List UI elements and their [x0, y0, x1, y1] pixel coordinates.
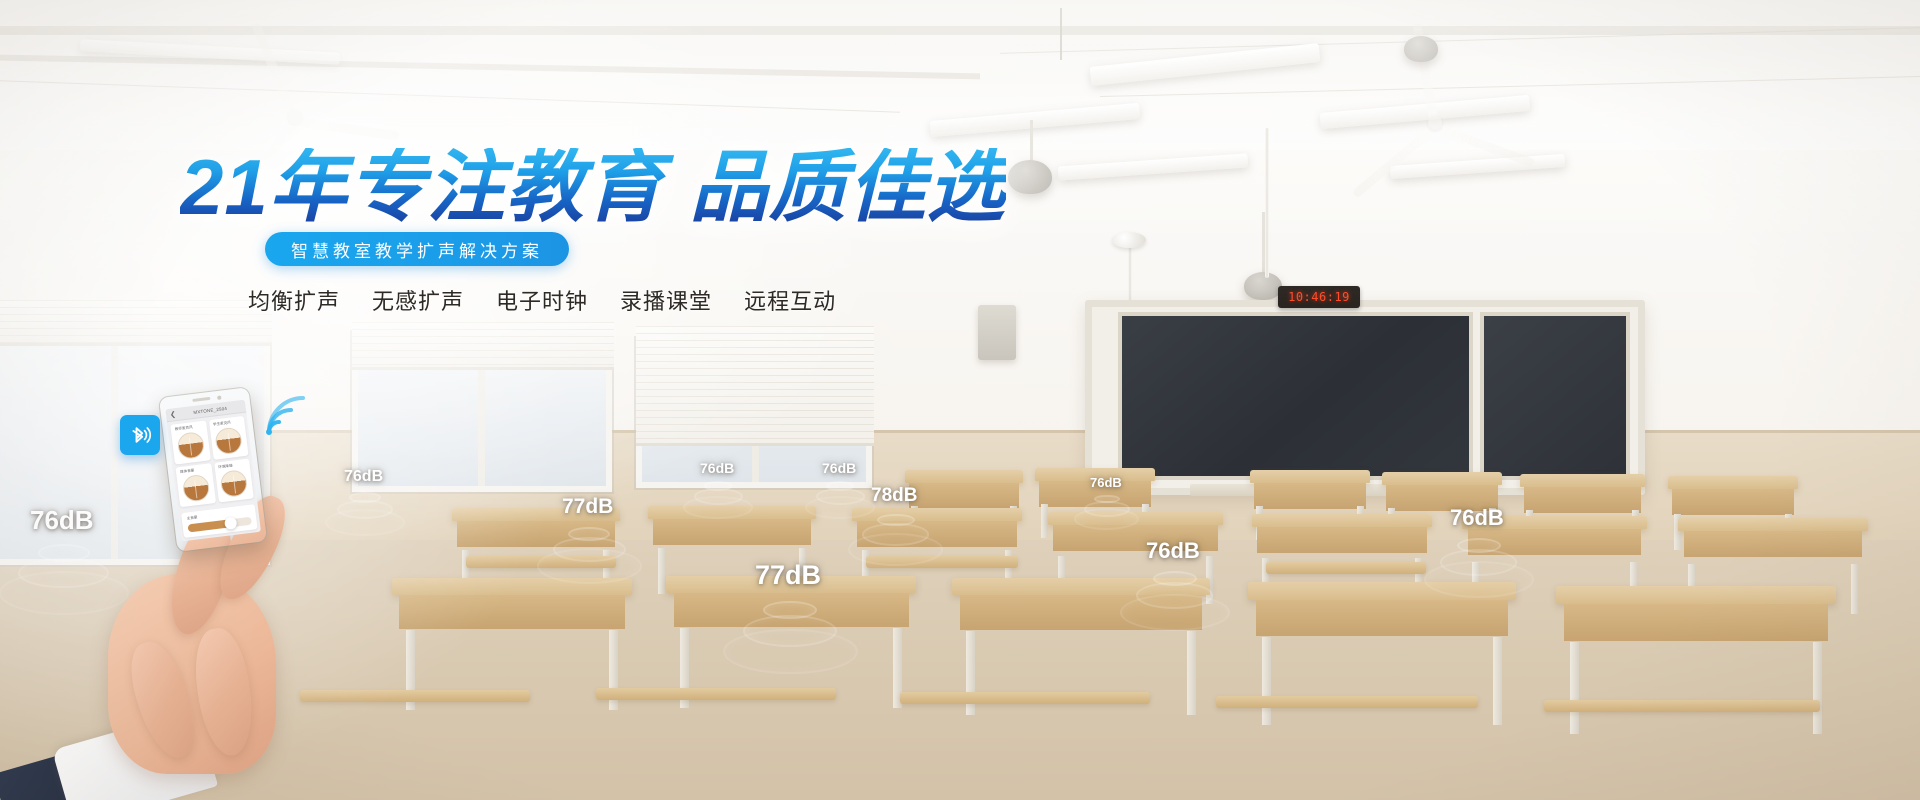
app-card-label-3: 环境降噪: [216, 464, 233, 471]
dial-control[interactable]: [220, 469, 249, 498]
feature-list: 均衡扩声无感扩声电子时钟录播课堂远程互动: [248, 284, 836, 316]
dial-control[interactable]: [181, 474, 210, 503]
student-desk: [1252, 514, 1432, 562]
app-control-card[interactable]: 媒体音量: [175, 463, 215, 507]
subtitle-text: 智慧教室教学扩声解决方案: [291, 237, 543, 262]
db-label-2: 77dB: [562, 495, 613, 519]
student-chair: [300, 690, 530, 706]
feature-item-2: 电子时钟: [496, 284, 588, 316]
banner-stage: 10:46:19: [0, 0, 1920, 800]
sound-ring: [723, 629, 858, 675]
db-label-3: 76dB: [700, 460, 734, 476]
sound-ring: [537, 548, 642, 584]
app-button-primary[interactable]: [185, 537, 221, 542]
mic-head: [1112, 232, 1146, 248]
app-control-grid: 教师麦克风学生麦克风媒体音量环境降噪: [167, 413, 257, 511]
sound-ring: [325, 509, 405, 536]
phone-screen[interactable]: ❮ MXTONE_2504 教师麦克风学生麦克风媒体音量环境降噪 主音量: [165, 400, 261, 542]
sound-ring: [848, 533, 943, 565]
feature-item-3: 录播课堂: [620, 284, 712, 316]
app-card-label-1: 学生麦克风: [211, 420, 231, 427]
window-blind: [352, 322, 614, 370]
student-chair: [900, 692, 1150, 709]
ceiling-beam: [0, 26, 1920, 35]
sound-ring: [1120, 594, 1230, 631]
student-chair: [1216, 696, 1478, 713]
pendant-rod: [1060, 8, 1062, 60]
sound-ring: [0, 571, 129, 615]
blackboard-side-panel: [1480, 312, 1630, 480]
smartphone[interactable]: ❮ MXTONE_2504 教师麦克风学生麦克风媒体音量环境降噪 主音量: [168, 392, 268, 557]
db-label-1: 76dB: [344, 468, 383, 486]
db-label-7: 76dB: [1090, 475, 1122, 490]
mic-stand-pole: [1265, 128, 1269, 278]
slider-knob[interactable]: [224, 517, 237, 530]
dial-control[interactable]: [176, 431, 205, 460]
db-label-9: 76dB: [1450, 505, 1504, 531]
app-card-label-2: 媒体音量: [178, 468, 195, 475]
feature-item-1: 无感扩声: [372, 284, 464, 316]
bluetooth-icon: [120, 415, 160, 455]
subtitle-pill: 智慧教室教学扩声解决方案: [265, 232, 569, 266]
db-label-0: 76dB: [30, 505, 94, 536]
student-desk: [1250, 470, 1370, 510]
window-blind: [636, 326, 874, 446]
feature-item-0: 均衡扩声: [248, 284, 340, 316]
student-chair: [1266, 562, 1426, 575]
headline-main: 21年专注教育: [180, 143, 664, 231]
blackboard-panel: [1118, 312, 1473, 480]
student-chair: [596, 688, 836, 704]
chevron-left-icon[interactable]: ❮: [170, 411, 177, 419]
page-title: 21年专注教育品质佳选: [180, 148, 1006, 226]
app-control-card[interactable]: 学生麦克风: [208, 416, 248, 460]
phone-camera: [217, 395, 221, 399]
window-blind: [0, 300, 272, 346]
app-control-card[interactable]: 环境降噪: [214, 459, 254, 503]
phone-earpiece: [192, 397, 210, 402]
wifi-waves-icon: [262, 388, 314, 436]
led-clock: 10:46:19: [1278, 286, 1360, 308]
headline-sub: 品质佳选: [690, 143, 1006, 231]
ceiling-speaker: [1008, 160, 1052, 194]
dial-control[interactable]: [214, 426, 243, 455]
phone-body: ❮ MXTONE_2504 教师麦克风学生麦克风媒体音量环境降噪 主音量: [159, 387, 267, 552]
ceiling-speaker: [1244, 272, 1282, 300]
student-desk: [392, 578, 632, 636]
feature-item-4: 远程互动: [744, 284, 836, 316]
db-label-5: 78dB: [871, 485, 917, 507]
wall-speaker: [978, 305, 1016, 360]
app-button-secondary[interactable]: [223, 532, 259, 541]
sound-ring: [1424, 561, 1534, 598]
student-desk: [1668, 476, 1798, 518]
student-chair: [1544, 700, 1820, 718]
db-label-8: 76dB: [1146, 538, 1200, 564]
student-desk: [1520, 474, 1645, 514]
led-clock-time: 10:46:19: [1288, 290, 1350, 304]
db-label-4: 76dB: [822, 460, 856, 476]
student-desk: [1678, 518, 1868, 568]
ceiling-fan: [1430, 118, 1440, 128]
ceiling-fan: [290, 112, 300, 122]
student-desk: [1556, 586, 1836, 650]
app-control-card[interactable]: 教师麦克风: [170, 421, 210, 465]
student-desk: [905, 470, 1023, 510]
db-label-6: 77dB: [755, 560, 821, 591]
ceiling-speaker: [1404, 36, 1438, 62]
speaker-stem: [1030, 120, 1033, 162]
